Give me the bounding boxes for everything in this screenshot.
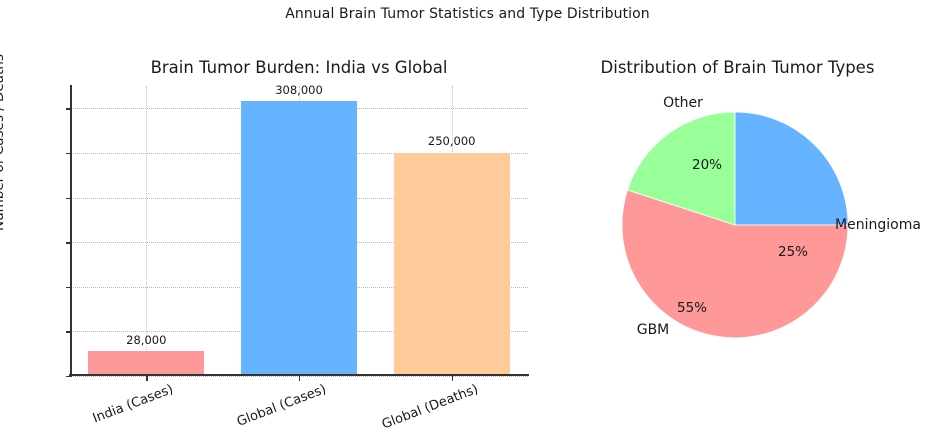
pie-pct-gbm: 55% <box>677 300 707 316</box>
pie-label-meningioma: Meningioma <box>835 217 921 233</box>
pie-chart-svg <box>540 50 935 418</box>
xtick-mark-global-cases <box>299 376 300 381</box>
pie-pct-meningioma: 25% <box>778 244 808 260</box>
xtick-mark-global-deaths <box>452 376 453 381</box>
bar-global-cases[interactable] <box>241 101 357 376</box>
figure-suptitle: Annual Brain Tumor Statistics and Type D… <box>0 6 935 22</box>
bar-chart-title: Brain Tumor Burden: India vs Global <box>70 58 528 77</box>
y-axis-spine <box>70 85 72 377</box>
xtick-mark-india-cases <box>146 376 147 381</box>
figure-canvas: Annual Brain Tumor Statistics and Type D… <box>0 0 935 418</box>
bar-chart-y-axis-label: Number of Cases / Deaths <box>0 54 7 231</box>
xtick-label-global-cases: Global (Cases) <box>213 382 329 438</box>
xtick-label-india-cases: India (Cases) <box>60 382 176 438</box>
bar-value-label-india-cases: 28,000 <box>126 333 166 347</box>
x-axis-spine <box>69 374 529 376</box>
bar-value-label-global-deaths: 250,000 <box>428 134 476 148</box>
pie-label-other: Other <box>663 95 703 111</box>
bar-chart-panel: Brain Tumor Burden: India vs Global Numb… <box>0 50 540 418</box>
bar-value-label-global-cases: 308,000 <box>275 83 323 97</box>
xtick-label-global-deaths: Global (Deaths) <box>365 382 481 438</box>
bar-india-cases[interactable] <box>88 351 204 376</box>
bar-chart-plot-area: 0 50000 100000 150000 200000 250000 3000… <box>70 86 528 376</box>
pie-label-gbm: GBM <box>637 322 670 338</box>
pie-slice-meningioma[interactable] <box>735 112 848 225</box>
pie-chart-panel: Distribution of Brain Tumor Types 25% 55… <box>540 50 935 418</box>
pie-pct-other: 20% <box>692 157 722 173</box>
bar-global-deaths[interactable] <box>394 153 510 376</box>
